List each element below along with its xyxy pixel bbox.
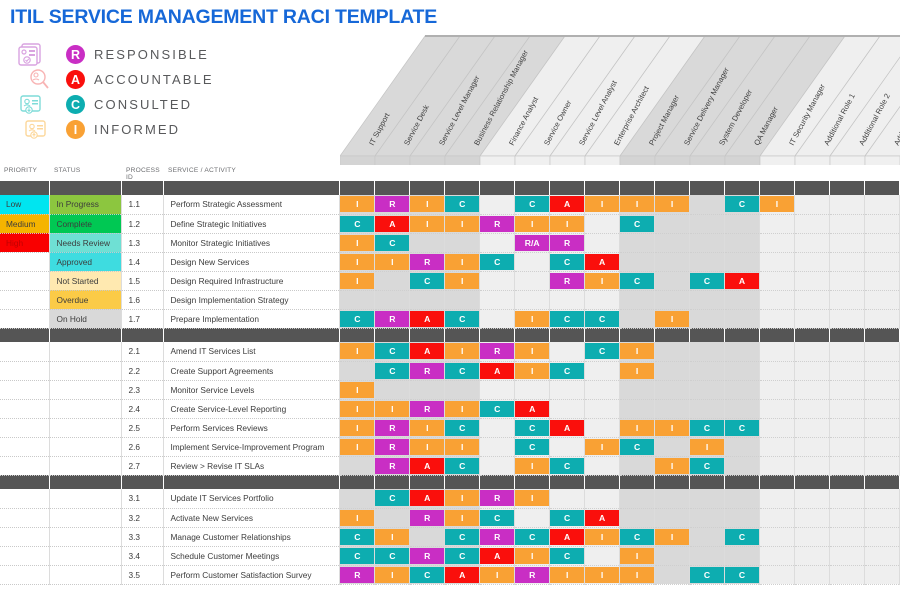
raci-cell[interactable] bbox=[864, 489, 899, 508]
raci-cell[interactable]: I bbox=[655, 195, 690, 214]
raci-cell[interactable] bbox=[375, 508, 410, 527]
raci-cell[interactable]: C bbox=[340, 214, 375, 233]
raci-cell[interactable]: C bbox=[445, 418, 480, 437]
raci-cell[interactable] bbox=[759, 252, 794, 271]
raci-cell[interactable] bbox=[759, 290, 794, 309]
raci-cell[interactable]: I bbox=[655, 418, 690, 437]
raci-cell[interactable] bbox=[410, 290, 445, 309]
raci-cell[interactable]: I bbox=[340, 437, 375, 456]
status-cell[interactable] bbox=[50, 437, 122, 456]
raci-cell[interactable]: I bbox=[620, 195, 655, 214]
raci-cell[interactable] bbox=[585, 214, 620, 233]
raci-cell[interactable] bbox=[794, 399, 829, 418]
status-cell[interactable] bbox=[50, 342, 122, 361]
raci-cell[interactable]: I bbox=[515, 214, 550, 233]
activity-cell[interactable]: Define Strategic Initiatives bbox=[164, 214, 340, 233]
table-row[interactable]: 2.1Amend IT Services ListICAIRICI bbox=[0, 342, 900, 361]
raci-cell[interactable] bbox=[585, 290, 620, 309]
raci-cell[interactable]: I bbox=[340, 418, 375, 437]
raci-cell[interactable] bbox=[759, 361, 794, 380]
raci-cell[interactable] bbox=[794, 361, 829, 380]
raci-cell[interactable] bbox=[585, 418, 620, 437]
raci-cell[interactable] bbox=[620, 508, 655, 527]
raci-cell[interactable] bbox=[829, 233, 864, 252]
raci-cell[interactable]: I bbox=[445, 342, 480, 361]
status-cell[interactable] bbox=[50, 489, 122, 508]
status-cell[interactable] bbox=[50, 565, 122, 584]
raci-cell[interactable]: I bbox=[690, 437, 725, 456]
raci-cell[interactable] bbox=[655, 271, 690, 290]
raci-cell[interactable] bbox=[864, 437, 899, 456]
raci-cell[interactable]: I bbox=[515, 361, 550, 380]
raci-cell[interactable] bbox=[655, 565, 690, 584]
raci-cell[interactable] bbox=[690, 380, 725, 399]
raci-cell[interactable] bbox=[759, 527, 794, 546]
status-cell[interactable] bbox=[50, 508, 122, 527]
status-cell[interactable]: In Progress bbox=[50, 195, 122, 214]
priority-cell[interactable] bbox=[0, 309, 50, 328]
status-cell[interactable] bbox=[50, 527, 122, 546]
raci-cell[interactable]: I bbox=[550, 565, 585, 584]
raci-cell[interactable]: C bbox=[375, 489, 410, 508]
raci-cell[interactable] bbox=[445, 290, 480, 309]
raci-cell[interactable] bbox=[725, 342, 760, 361]
raci-cell[interactable] bbox=[550, 380, 585, 399]
raci-cell[interactable]: A bbox=[375, 214, 410, 233]
raci-cell[interactable] bbox=[480, 290, 515, 309]
raci-cell[interactable] bbox=[620, 290, 655, 309]
activity-cell[interactable]: Update IT Services Portfolio bbox=[164, 489, 340, 508]
table-row[interactable]: 3.1Update IT Services PortfolioCAIRI bbox=[0, 489, 900, 508]
raci-cell[interactable]: I bbox=[550, 214, 585, 233]
raci-cell[interactable] bbox=[620, 309, 655, 328]
raci-cell[interactable] bbox=[550, 290, 585, 309]
activity-cell[interactable]: Design New Services bbox=[164, 252, 340, 271]
raci-cell[interactable]: I bbox=[340, 252, 375, 271]
raci-cell[interactable] bbox=[829, 546, 864, 565]
raci-cell[interactable] bbox=[794, 418, 829, 437]
activity-cell[interactable]: Prepare Implementation bbox=[164, 309, 340, 328]
raci-cell[interactable] bbox=[550, 437, 585, 456]
raci-cell[interactable] bbox=[620, 252, 655, 271]
activity-cell[interactable]: Design Required Infrastructure bbox=[164, 271, 340, 290]
raci-cell[interactable] bbox=[829, 456, 864, 475]
raci-cell[interactable] bbox=[340, 361, 375, 380]
raci-cell[interactable] bbox=[864, 456, 899, 475]
raci-cell[interactable]: C bbox=[725, 565, 760, 584]
raci-cell[interactable]: R bbox=[410, 252, 445, 271]
table-row[interactable]: 3.5Perform Customer Satisfaction SurveyR… bbox=[0, 565, 900, 584]
raci-cell[interactable] bbox=[655, 399, 690, 418]
raci-cell[interactable]: A bbox=[550, 195, 585, 214]
raci-cell[interactable] bbox=[690, 252, 725, 271]
raci-cell[interactable]: C bbox=[340, 309, 375, 328]
raci-cell[interactable] bbox=[759, 380, 794, 399]
raci-cell[interactable] bbox=[794, 380, 829, 399]
raci-cell[interactable]: C bbox=[725, 418, 760, 437]
raci-cell[interactable] bbox=[829, 252, 864, 271]
raci-cell[interactable] bbox=[655, 489, 690, 508]
activity-cell[interactable]: Review > Revise IT SLAs bbox=[164, 456, 340, 475]
raci-cell[interactable]: R bbox=[480, 214, 515, 233]
raci-cell[interactable]: I bbox=[375, 527, 410, 546]
raci-cell[interactable] bbox=[725, 290, 760, 309]
priority-cell[interactable] bbox=[0, 489, 50, 508]
raci-cell[interactable]: C bbox=[375, 342, 410, 361]
raci-cell[interactable] bbox=[550, 342, 585, 361]
process-id-cell[interactable]: 3.1 bbox=[122, 489, 164, 508]
process-id-cell[interactable]: 1.5 bbox=[122, 271, 164, 290]
status-cell[interactable]: Approved bbox=[50, 252, 122, 271]
raci-cell[interactable] bbox=[829, 271, 864, 290]
raci-cell[interactable]: C bbox=[725, 195, 760, 214]
raci-cell[interactable]: R bbox=[410, 399, 445, 418]
raci-cell[interactable]: R bbox=[410, 361, 445, 380]
raci-cell[interactable]: C bbox=[445, 195, 480, 214]
status-cell[interactable]: On Hold bbox=[50, 309, 122, 328]
raci-cell[interactable]: I bbox=[340, 195, 375, 214]
raci-cell[interactable] bbox=[864, 361, 899, 380]
raci-cell[interactable]: I bbox=[655, 527, 690, 546]
raci-cell[interactable] bbox=[690, 233, 725, 252]
process-id-cell[interactable]: 2.2 bbox=[122, 361, 164, 380]
raci-cell[interactable] bbox=[690, 290, 725, 309]
raci-cell[interactable] bbox=[620, 399, 655, 418]
raci-cell[interactable] bbox=[340, 290, 375, 309]
raci-cell[interactable]: C bbox=[620, 527, 655, 546]
raci-cell[interactable]: C bbox=[690, 456, 725, 475]
raci-cell[interactable]: C bbox=[515, 437, 550, 456]
raci-cell[interactable] bbox=[515, 290, 550, 309]
raci-cell[interactable]: C bbox=[725, 527, 760, 546]
raci-cell[interactable] bbox=[480, 456, 515, 475]
raci-cell[interactable]: C bbox=[445, 546, 480, 565]
raci-cell[interactable]: I bbox=[410, 418, 445, 437]
table-row[interactable]: Overdue1.6Design Implementation Strategy bbox=[0, 290, 900, 309]
raci-cell[interactable] bbox=[725, 489, 760, 508]
status-cell[interactable] bbox=[50, 380, 122, 399]
raci-cell[interactable] bbox=[690, 527, 725, 546]
raci-cell[interactable]: A bbox=[550, 418, 585, 437]
raci-cell[interactable]: C bbox=[620, 214, 655, 233]
raci-cell[interactable] bbox=[725, 309, 760, 328]
raci-cell[interactable]: A bbox=[410, 489, 445, 508]
priority-cell[interactable] bbox=[0, 527, 50, 546]
activity-cell[interactable]: Schedule Customer Meetings bbox=[164, 546, 340, 565]
raci-cell[interactable] bbox=[864, 342, 899, 361]
raci-cell[interactable]: I bbox=[759, 195, 794, 214]
raci-cell[interactable] bbox=[480, 437, 515, 456]
raci-cell[interactable]: R bbox=[375, 456, 410, 475]
process-id-cell[interactable]: 1.4 bbox=[122, 252, 164, 271]
raci-cell[interactable]: C bbox=[690, 271, 725, 290]
raci-cell[interactable] bbox=[620, 489, 655, 508]
raci-cell[interactable]: C bbox=[480, 399, 515, 418]
priority-cell[interactable] bbox=[0, 546, 50, 565]
status-cell[interactable]: Needs Review bbox=[50, 233, 122, 252]
raci-cell[interactable] bbox=[515, 380, 550, 399]
raci-cell[interactable] bbox=[375, 290, 410, 309]
raci-cell[interactable]: C bbox=[550, 309, 585, 328]
raci-cell[interactable] bbox=[794, 271, 829, 290]
raci-cell[interactable] bbox=[829, 418, 864, 437]
raci-cell[interactable] bbox=[864, 546, 899, 565]
raci-cell[interactable] bbox=[759, 342, 794, 361]
table-row[interactable]: On Hold1.7Prepare ImplementationCRACICCI bbox=[0, 309, 900, 328]
raci-cell[interactable] bbox=[829, 527, 864, 546]
raci-cell[interactable]: C bbox=[480, 508, 515, 527]
activity-cell[interactable]: Perform Services Reviews bbox=[164, 418, 340, 437]
raci-cell[interactable]: A bbox=[725, 271, 760, 290]
raci-cell[interactable] bbox=[864, 380, 899, 399]
raci-cell[interactable] bbox=[864, 214, 899, 233]
raci-cell[interactable]: I bbox=[515, 456, 550, 475]
raci-cell[interactable] bbox=[829, 342, 864, 361]
raci-cell[interactable]: R bbox=[375, 418, 410, 437]
raci-cell[interactable] bbox=[864, 508, 899, 527]
table-row[interactable]: 3.3Manage Customer RelationshipsCICRCAIC… bbox=[0, 527, 900, 546]
status-cell[interactable] bbox=[50, 456, 122, 475]
raci-cell[interactable] bbox=[585, 399, 620, 418]
raci-cell[interactable] bbox=[759, 508, 794, 527]
raci-cell[interactable]: R/A bbox=[515, 233, 550, 252]
raci-cell[interactable] bbox=[655, 233, 690, 252]
raci-cell[interactable]: A bbox=[585, 252, 620, 271]
raci-cell[interactable] bbox=[794, 565, 829, 584]
raci-cell[interactable]: C bbox=[375, 233, 410, 252]
raci-cell[interactable] bbox=[829, 399, 864, 418]
raci-cell[interactable] bbox=[480, 309, 515, 328]
raci-cell[interactable]: I bbox=[410, 437, 445, 456]
raci-cell[interactable]: I bbox=[375, 399, 410, 418]
raci-cell[interactable] bbox=[829, 489, 864, 508]
process-id-cell[interactable]: 2.6 bbox=[122, 437, 164, 456]
raci-cell[interactable]: R bbox=[375, 437, 410, 456]
process-id-cell[interactable]: 3.2 bbox=[122, 508, 164, 527]
table-row[interactable]: Not Started1.5Design Required Infrastruc… bbox=[0, 271, 900, 290]
raci-cell[interactable] bbox=[864, 565, 899, 584]
raci-cell[interactable] bbox=[410, 380, 445, 399]
raci-cell[interactable]: C bbox=[585, 309, 620, 328]
priority-cell[interactable]: High bbox=[0, 233, 50, 252]
process-id-cell[interactable]: 1.6 bbox=[122, 290, 164, 309]
raci-cell[interactable] bbox=[794, 489, 829, 508]
raci-cell[interactable] bbox=[655, 380, 690, 399]
raci-cell[interactable] bbox=[655, 290, 690, 309]
raci-cell[interactable] bbox=[690, 342, 725, 361]
raci-cell[interactable]: R bbox=[550, 233, 585, 252]
raci-cell[interactable]: I bbox=[340, 399, 375, 418]
raci-cell[interactable] bbox=[690, 546, 725, 565]
raci-cell[interactable]: C bbox=[550, 546, 585, 565]
process-id-cell[interactable]: 3.4 bbox=[122, 546, 164, 565]
raci-cell[interactable]: I bbox=[515, 546, 550, 565]
process-id-cell[interactable]: 2.3 bbox=[122, 380, 164, 399]
raci-cell[interactable]: I bbox=[585, 271, 620, 290]
priority-cell[interactable] bbox=[0, 380, 50, 399]
process-id-cell[interactable]: 1.2 bbox=[122, 214, 164, 233]
raci-cell[interactable] bbox=[829, 290, 864, 309]
raci-cell[interactable] bbox=[759, 418, 794, 437]
raci-cell[interactable]: A bbox=[445, 565, 480, 584]
priority-cell[interactable] bbox=[0, 456, 50, 475]
priority-cell[interactable]: Medium bbox=[0, 214, 50, 233]
activity-cell[interactable]: Manage Customer Relationships bbox=[164, 527, 340, 546]
raci-cell[interactable] bbox=[725, 546, 760, 565]
raci-cell[interactable] bbox=[794, 214, 829, 233]
raci-cell[interactable]: A bbox=[410, 342, 445, 361]
raci-cell[interactable]: I bbox=[585, 565, 620, 584]
raci-cell[interactable]: C bbox=[515, 195, 550, 214]
table-row[interactable]: MediumComplete1.2Define Strategic Initia… bbox=[0, 214, 900, 233]
raci-cell[interactable] bbox=[725, 361, 760, 380]
raci-cell[interactable] bbox=[375, 380, 410, 399]
raci-cell[interactable] bbox=[864, 271, 899, 290]
raci-cell[interactable] bbox=[829, 508, 864, 527]
raci-cell[interactable] bbox=[794, 309, 829, 328]
activity-cell[interactable]: Create Service-Level Reporting bbox=[164, 399, 340, 418]
raci-cell[interactable] bbox=[515, 508, 550, 527]
raci-cell[interactable]: C bbox=[445, 309, 480, 328]
raci-cell[interactable]: A bbox=[410, 309, 445, 328]
table-row[interactable]: 2.6Implement Service-Improvement Program… bbox=[0, 437, 900, 456]
activity-cell[interactable]: Monitor Service Levels bbox=[164, 380, 340, 399]
process-id-cell[interactable]: 1.1 bbox=[122, 195, 164, 214]
raci-cell[interactable] bbox=[445, 233, 480, 252]
raci-cell[interactable]: C bbox=[620, 437, 655, 456]
table-row[interactable]: 2.2Create Support AgreementsCRCAICI bbox=[0, 361, 900, 380]
raci-cell[interactable] bbox=[480, 195, 515, 214]
raci-cell[interactable]: R bbox=[375, 195, 410, 214]
raci-cell[interactable] bbox=[690, 489, 725, 508]
raci-cell[interactable] bbox=[690, 309, 725, 328]
raci-cell[interactable]: A bbox=[480, 361, 515, 380]
raci-cell[interactable] bbox=[725, 508, 760, 527]
raci-cell[interactable] bbox=[794, 195, 829, 214]
raci-cell[interactable]: I bbox=[655, 309, 690, 328]
raci-cell[interactable] bbox=[480, 380, 515, 399]
raci-cell[interactable] bbox=[864, 418, 899, 437]
raci-cell[interactable] bbox=[725, 214, 760, 233]
raci-cell[interactable]: I bbox=[445, 214, 480, 233]
raci-cell[interactable]: I bbox=[410, 195, 445, 214]
raci-cell[interactable] bbox=[690, 399, 725, 418]
raci-cell[interactable] bbox=[794, 437, 829, 456]
process-id-cell[interactable]: 1.3 bbox=[122, 233, 164, 252]
raci-cell[interactable]: A bbox=[585, 508, 620, 527]
raci-cell[interactable]: I bbox=[620, 546, 655, 565]
raci-cell[interactable] bbox=[759, 399, 794, 418]
priority-cell[interactable]: Low bbox=[0, 195, 50, 214]
raci-cell[interactable]: I bbox=[585, 527, 620, 546]
raci-cell[interactable] bbox=[864, 309, 899, 328]
raci-cell[interactable]: C bbox=[550, 456, 585, 475]
raci-cell[interactable]: R bbox=[480, 342, 515, 361]
raci-cell[interactable]: I bbox=[340, 508, 375, 527]
priority-cell[interactable] bbox=[0, 508, 50, 527]
raci-cell[interactable] bbox=[794, 527, 829, 546]
raci-cell[interactable] bbox=[585, 233, 620, 252]
raci-cell[interactable]: I bbox=[515, 342, 550, 361]
raci-cell[interactable] bbox=[620, 456, 655, 475]
raci-cell[interactable]: R bbox=[340, 565, 375, 584]
raci-cell[interactable] bbox=[759, 489, 794, 508]
table-row[interactable]: HighNeeds Review1.3Monitor Strategic Ini… bbox=[0, 233, 900, 252]
raci-cell[interactable] bbox=[829, 214, 864, 233]
raci-cell[interactable] bbox=[794, 342, 829, 361]
raci-cell[interactable]: I bbox=[445, 489, 480, 508]
raci-cell[interactable]: A bbox=[410, 456, 445, 475]
raci-cell[interactable] bbox=[864, 233, 899, 252]
raci-cell[interactable]: R bbox=[515, 565, 550, 584]
raci-cell[interactable]: I bbox=[585, 195, 620, 214]
raci-cell[interactable]: I bbox=[340, 271, 375, 290]
raci-cell[interactable] bbox=[829, 361, 864, 380]
raci-cell[interactable]: I bbox=[445, 252, 480, 271]
raci-cell[interactable] bbox=[340, 456, 375, 475]
raci-cell[interactable]: I bbox=[620, 342, 655, 361]
raci-cell[interactable]: C bbox=[375, 361, 410, 380]
raci-cell[interactable] bbox=[410, 233, 445, 252]
raci-cell[interactable]: R bbox=[410, 508, 445, 527]
raci-cell[interactable]: C bbox=[550, 252, 585, 271]
priority-cell[interactable] bbox=[0, 437, 50, 456]
process-id-cell[interactable]: 2.1 bbox=[122, 342, 164, 361]
table-row[interactable]: 2.5Perform Services ReviewsIRICCAIICC bbox=[0, 418, 900, 437]
raci-cell[interactable]: C bbox=[515, 527, 550, 546]
raci-cell[interactable]: C bbox=[690, 565, 725, 584]
raci-cell[interactable] bbox=[585, 380, 620, 399]
status-cell[interactable]: Not Started bbox=[50, 271, 122, 290]
priority-cell[interactable] bbox=[0, 290, 50, 309]
raci-cell[interactable] bbox=[585, 361, 620, 380]
raci-cell[interactable]: I bbox=[655, 456, 690, 475]
raci-cell[interactable]: C bbox=[340, 546, 375, 565]
raci-cell[interactable]: I bbox=[620, 361, 655, 380]
raci-cell[interactable] bbox=[759, 309, 794, 328]
raci-cell[interactable]: I bbox=[445, 271, 480, 290]
raci-cell[interactable] bbox=[794, 456, 829, 475]
raci-cell[interactable]: I bbox=[445, 437, 480, 456]
raci-cell[interactable]: I bbox=[585, 437, 620, 456]
priority-cell[interactable] bbox=[0, 252, 50, 271]
raci-cell[interactable]: C bbox=[515, 418, 550, 437]
raci-cell[interactable] bbox=[585, 489, 620, 508]
raci-cell[interactable] bbox=[690, 508, 725, 527]
raci-cell[interactable]: R bbox=[480, 527, 515, 546]
raci-cell[interactable] bbox=[620, 233, 655, 252]
process-id-cell[interactable]: 3.5 bbox=[122, 565, 164, 584]
raci-cell[interactable]: I bbox=[515, 489, 550, 508]
raci-cell[interactable] bbox=[864, 195, 899, 214]
raci-cell[interactable] bbox=[725, 437, 760, 456]
table-row[interactable]: 3.2Activate New ServicesIRICCA bbox=[0, 508, 900, 527]
raci-cell[interactable] bbox=[655, 546, 690, 565]
raci-cell[interactable]: C bbox=[620, 271, 655, 290]
raci-cell[interactable] bbox=[550, 399, 585, 418]
priority-cell[interactable] bbox=[0, 418, 50, 437]
raci-cell[interactable] bbox=[864, 399, 899, 418]
raci-cell[interactable] bbox=[759, 214, 794, 233]
raci-cell[interactable] bbox=[794, 233, 829, 252]
raci-cell[interactable]: C bbox=[410, 271, 445, 290]
activity-cell[interactable]: Perform Strategic Assessment bbox=[164, 195, 340, 214]
raci-cell[interactable] bbox=[690, 195, 725, 214]
activity-cell[interactable]: Implement Service-Improvement Program bbox=[164, 437, 340, 456]
raci-cell[interactable] bbox=[759, 546, 794, 565]
raci-cell[interactable] bbox=[550, 489, 585, 508]
raci-cell[interactable] bbox=[690, 214, 725, 233]
